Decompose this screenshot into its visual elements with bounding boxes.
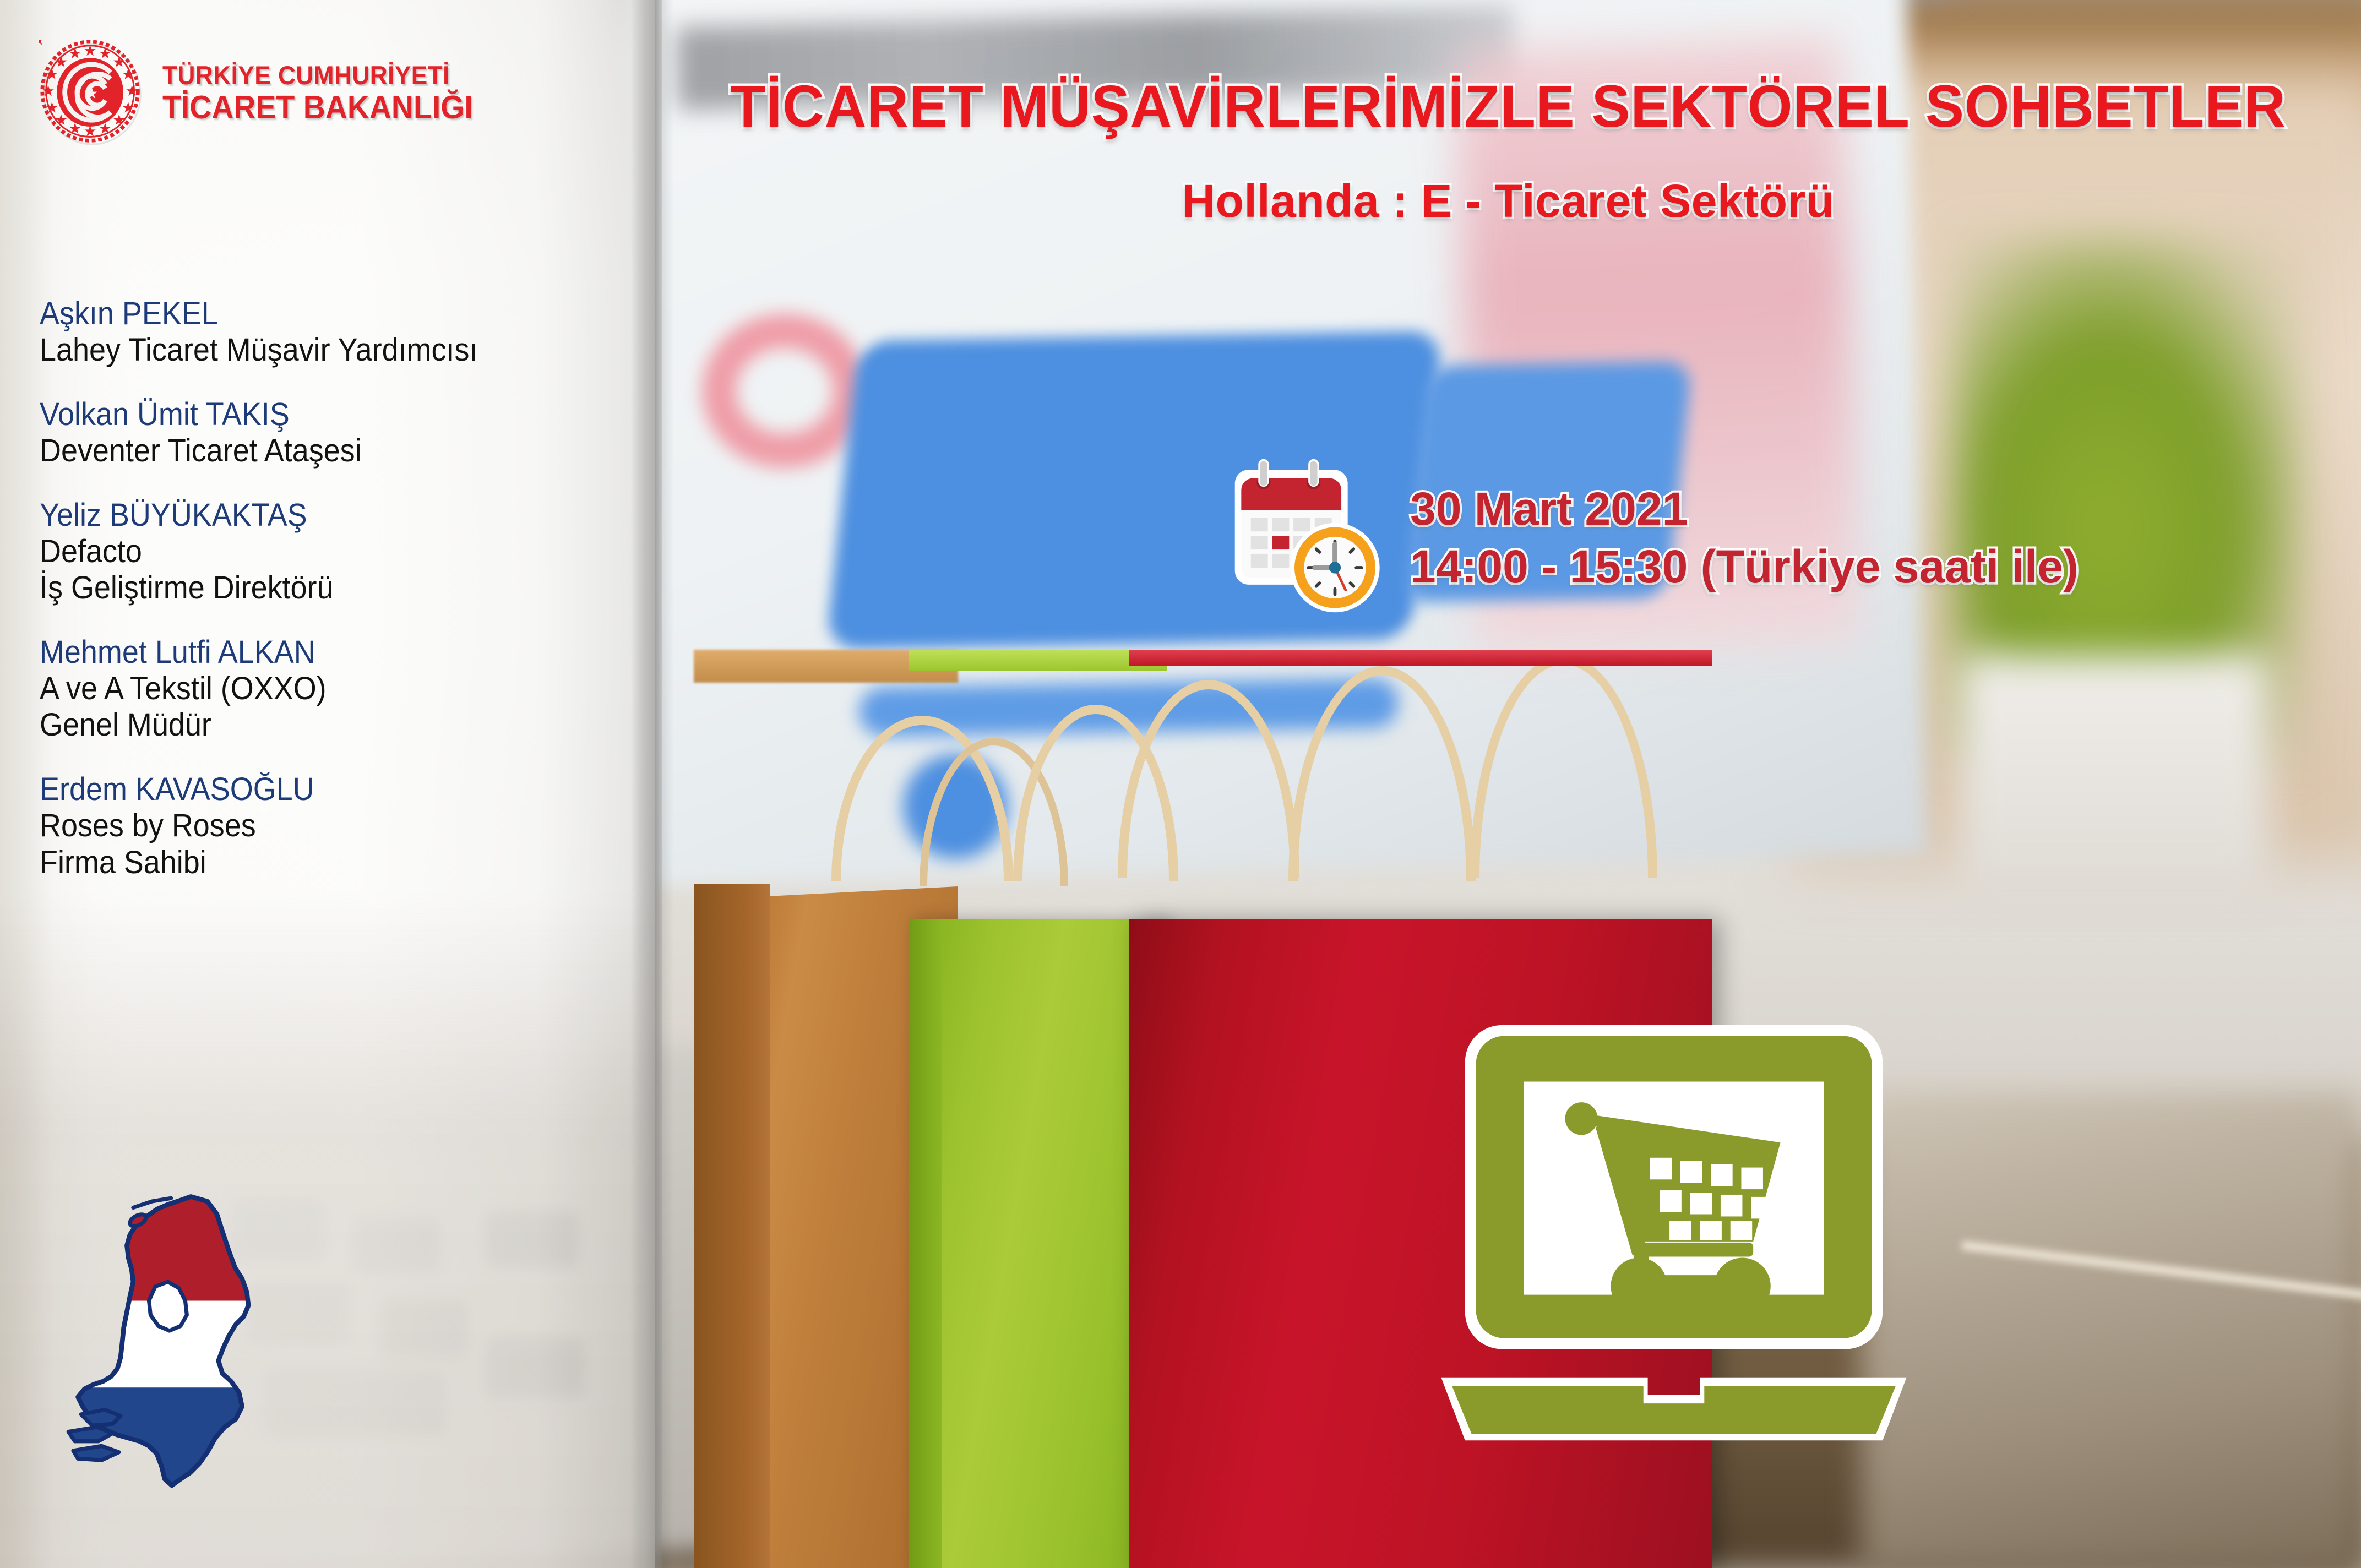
ministry-name-line1: TÜRKİYE CUMHURİYETİ bbox=[162, 62, 473, 89]
netherlands-flag-map-icon bbox=[61, 1184, 297, 1503]
speaker-role: A ve A Tekstil (OXXO) bbox=[40, 671, 598, 707]
ministry-logo: TÜRKİYE CUMHURİYETİ TİCARET BAKANLIĞI bbox=[39, 30, 617, 157]
event-date: 30 Mart 2021 bbox=[1410, 482, 2079, 536]
speaker-item: Volkan Ümit TAKIŞ Deventer Ticaret Ataşe… bbox=[40, 397, 640, 469]
ministry-name-line2: TİCARET BAKANLIĞI bbox=[162, 91, 473, 125]
speaker-role: Deventer Ticaret Ataşesi bbox=[40, 433, 598, 469]
ijsselmeer-lake bbox=[149, 1282, 187, 1331]
clock-center-dot bbox=[1329, 562, 1341, 573]
ministry-logo-text: TÜRKİYE CUMHURİYETİ TİCARET BAKANLIĞI bbox=[162, 62, 493, 125]
speaker-list: Aşkın PEKEL Lahey Ticaret Müşavir Yardım… bbox=[40, 296, 640, 910]
speaker-item: Yeliz BÜYÜKAKTAŞ Defacto İş Geliştirme D… bbox=[40, 498, 640, 606]
event-time: 14:00 - 15:30 (Türkiye saati ile) bbox=[1410, 540, 2079, 594]
shopping-bag-kraft-side bbox=[694, 884, 770, 1568]
speaker-role: Genel Müdür bbox=[40, 707, 598, 743]
speaker-name: Erdem KAVASOĞLU bbox=[40, 772, 598, 808]
shopping-bag-red-rim bbox=[1129, 650, 1712, 666]
speaker-role: Defacto bbox=[40, 533, 598, 570]
shopping-bag-green-side bbox=[909, 919, 942, 1568]
event-datetime-text: 30 Mart 2021 14:00 - 15:30 (Türkiye saat… bbox=[1410, 477, 2079, 594]
title-block: TİCARET MÜŞAVİRLERİMİZLE SEKTÖREL SOHBET… bbox=[655, 72, 2361, 228]
speaker-item: Mehmet Lutfi ALKAN A ve A Tekstil (OXXO)… bbox=[40, 635, 640, 743]
calendar-clock-icon bbox=[1231, 456, 1390, 616]
speaker-item: Aşkın PEKEL Lahey Ticaret Müşavir Yardım… bbox=[40, 296, 640, 368]
speaker-name: Volkan Ümit TAKIŞ bbox=[40, 397, 598, 433]
speaker-name: Aşkın PEKEL bbox=[40, 296, 598, 332]
speaker-role: Firma Sahibi bbox=[40, 845, 598, 881]
turkish-ministry-emblem-icon bbox=[39, 40, 146, 148]
speaker-role: Roses by Roses bbox=[40, 808, 598, 844]
event-datetime-block: 30 Mart 2021 14:00 - 15:30 (Türkiye saat… bbox=[1231, 456, 2079, 616]
flag-band-blue bbox=[61, 1387, 297, 1501]
speaker-name: Yeliz BÜYÜKAKTAŞ bbox=[40, 498, 598, 533]
speaker-name: Mehmet Lutfi ALKAN bbox=[40, 635, 598, 671]
calendar-selected-day bbox=[1272, 536, 1289, 549]
bag-rope-handle bbox=[1118, 680, 1299, 878]
bag-rope-handle bbox=[1470, 655, 1657, 878]
page-title: TİCARET MÜŞAVİRLERİMİZLE SEKTÖREL SOHBET… bbox=[681, 72, 2335, 140]
speaker-item: Erdem KAVASOĞLU Roses by Roses Firma Sah… bbox=[40, 772, 640, 880]
page-subtitle: Hollanda : E - Ticaret Sektörü bbox=[655, 175, 2361, 228]
poster-canvas: TÜRKİYE CUMHURİYETİ TİCARET BAKANLIĞI Aş… bbox=[0, 0, 2361, 1568]
panel-drop-shadow bbox=[655, 0, 674, 1568]
laptop-shopping-cart-icon bbox=[1432, 1019, 1916, 1453]
speaker-role: İş Geliştirme Direktörü bbox=[40, 570, 598, 606]
speaker-role: Lahey Ticaret Müşavir Yardımcısı bbox=[40, 332, 598, 368]
laptop-base bbox=[1452, 1386, 1896, 1434]
bag-rope-handle bbox=[1288, 666, 1476, 881]
screen-cart-handle-blur bbox=[702, 314, 867, 468]
